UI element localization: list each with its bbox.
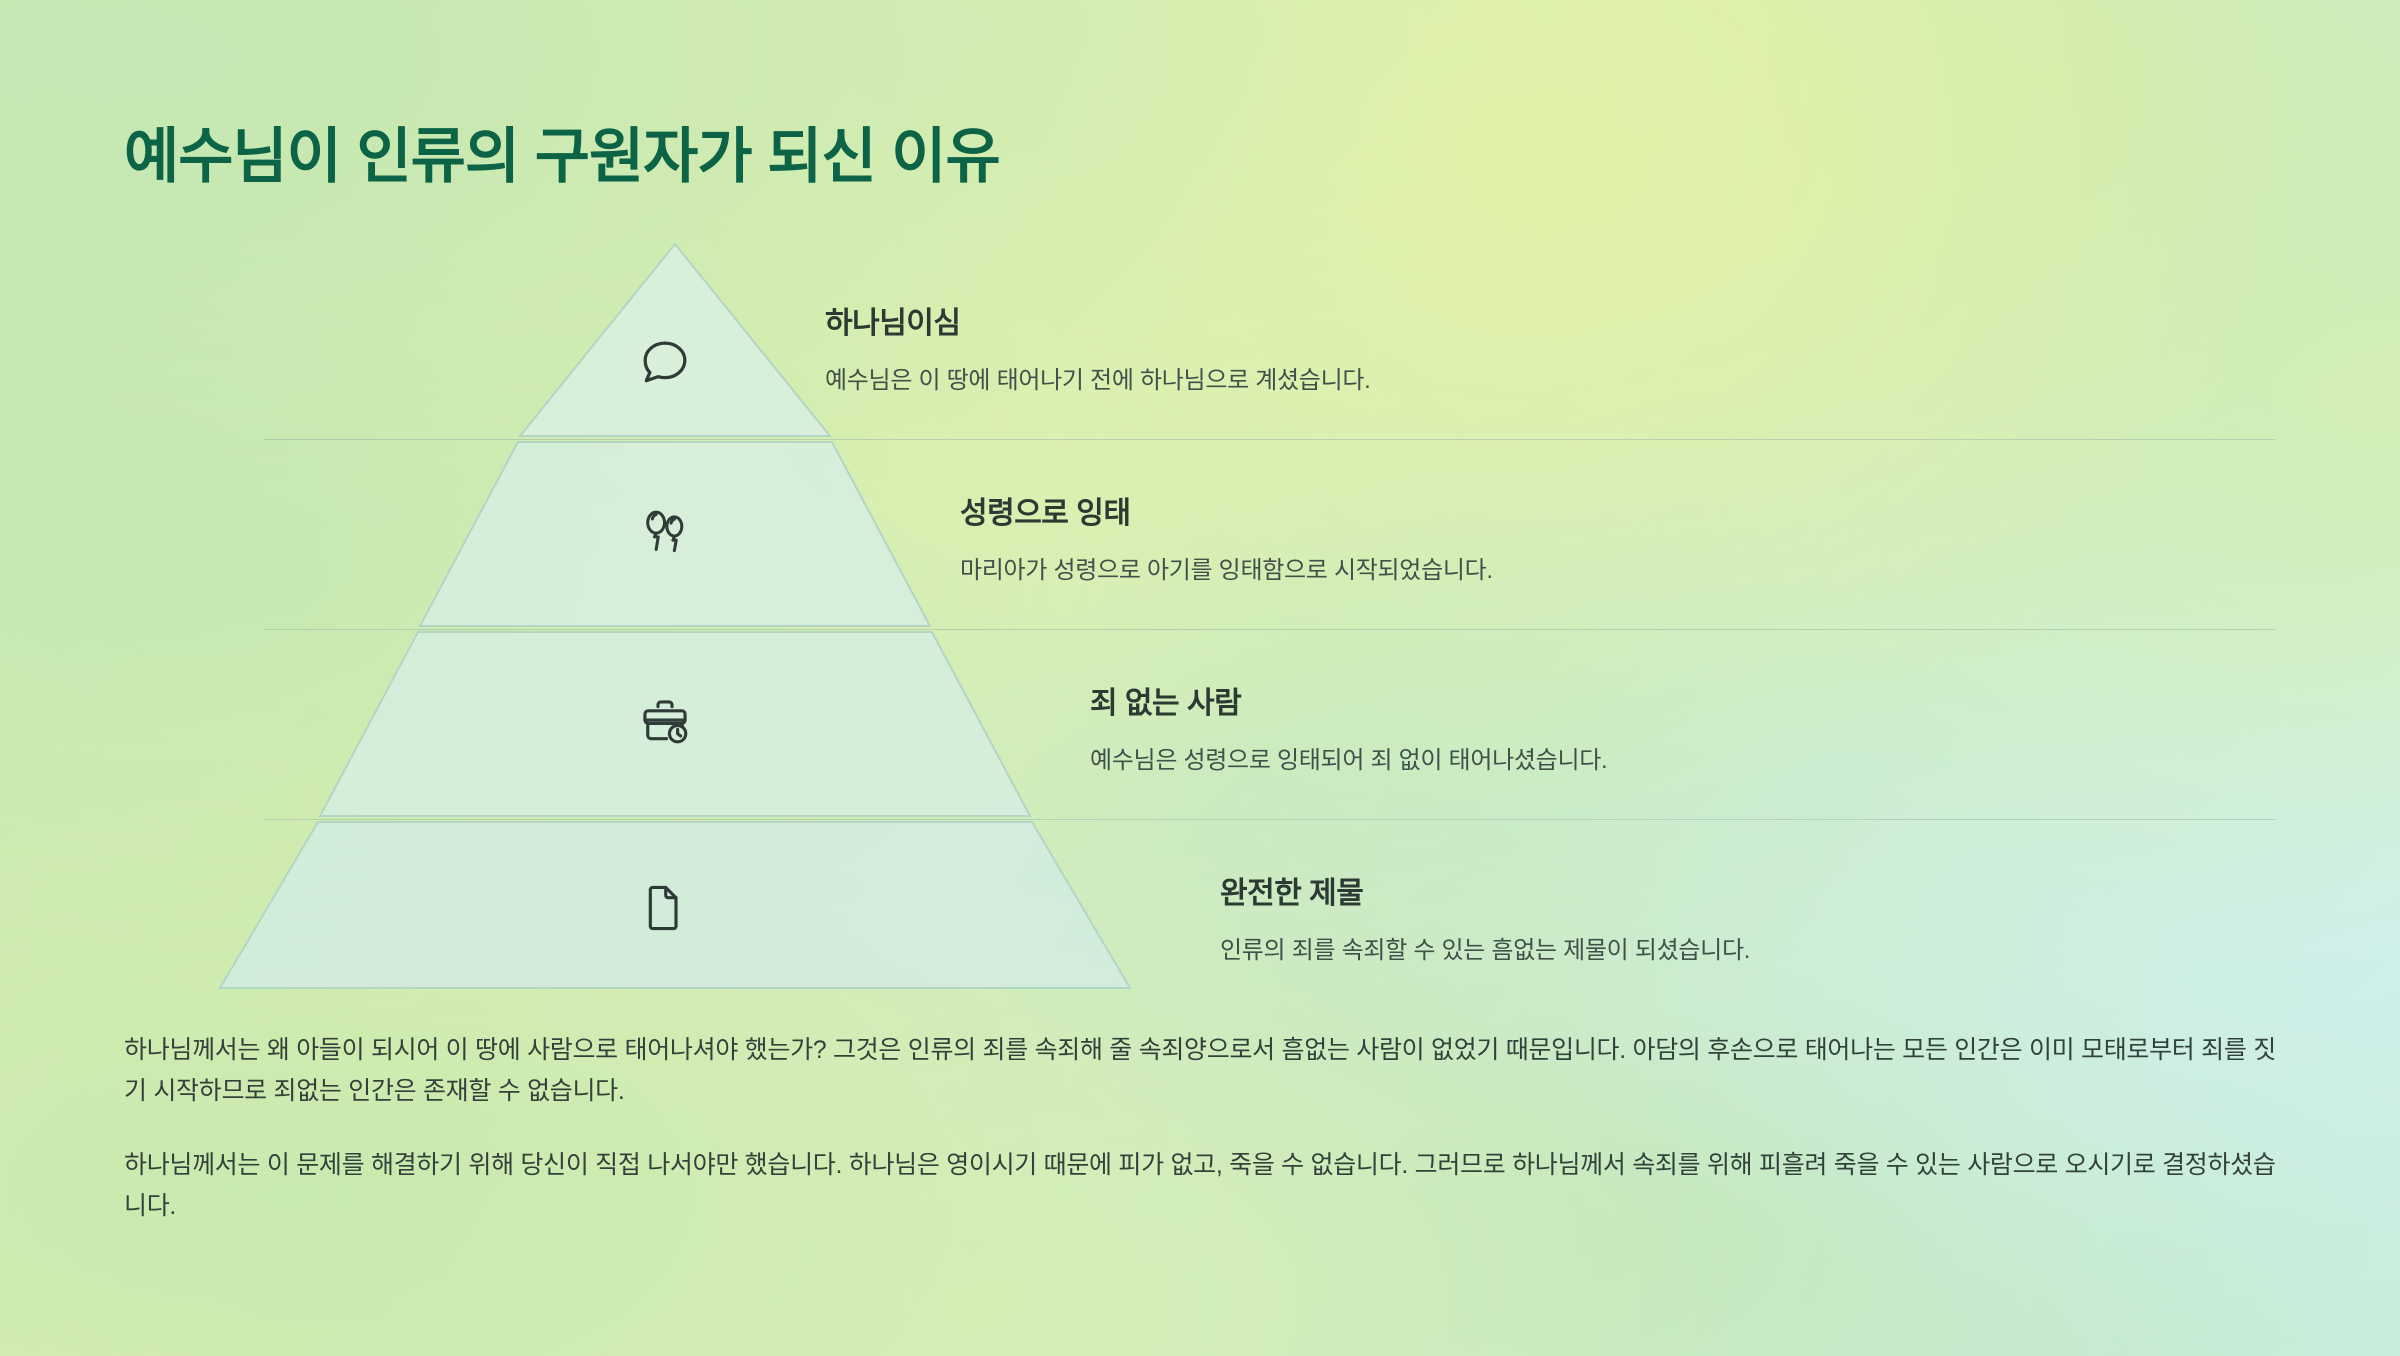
- pyramid-row-3-text: 죄 없는 사람 예수님은 성령으로 잉태되어 죄 없이 태어나셨습니다.: [1090, 678, 1607, 775]
- pyramid-row-4-heading: 완전한 제물: [1220, 868, 1750, 912]
- pyramid-row-2-text: 성령으로 잉태 마리아가 성령으로 아기를 잉태함으로 시작되었습니다.: [960, 488, 1493, 585]
- row-divider-1: [264, 439, 2276, 440]
- balloons-icon: [637, 504, 693, 560]
- pyramid-row-2-heading: 성령으로 잉태: [960, 488, 1493, 532]
- pyramid-row-3-description: 예수님은 성령으로 잉태되어 죄 없이 태어나셨습니다.: [1090, 740, 1607, 775]
- briefcase-clock-icon: [637, 694, 693, 750]
- document-icon: [634, 880, 690, 936]
- pyramid-row-2-description: 마리아가 성령으로 아기를 잉태함으로 시작되었습니다.: [960, 550, 1493, 585]
- row-divider-2: [264, 629, 2276, 630]
- row-divider-3: [264, 819, 2276, 820]
- pyramid-row-1-heading: 하나님이심: [825, 298, 1371, 342]
- body-copy: 하나님께서는 왜 아들이 되시어 이 땅에 사람으로 태어나셔야 했는가? 그것…: [124, 1030, 2279, 1226]
- body-paragraph-2: 하나님께서는 이 문제를 해결하기 위해 당신이 직접 나서야만 했습니다. 하…: [124, 1145, 2279, 1226]
- speech-bubble-icon: [637, 334, 693, 390]
- page-title: 예수님이 인류의 구원자가 되신 이유: [124, 108, 1000, 195]
- pyramid-row-4-text: 완전한 제물 인류의 죄를 속죄할 수 있는 흠없는 제물이 되셨습니다.: [1220, 868, 1750, 965]
- pyramid-diagram: 하나님이심 예수님은 이 땅에 태어나기 전에 하나님으로 계셨습니다. 성령으…: [0, 236, 2400, 996]
- body-paragraph-1: 하나님께서는 왜 아들이 되시어 이 땅에 사람으로 태어나셔야 했는가? 그것…: [124, 1030, 2279, 1111]
- pyramid-row-1-description: 예수님은 이 땅에 태어나기 전에 하나님으로 계셨습니다.: [825, 360, 1371, 395]
- pyramid-row-1-text: 하나님이심 예수님은 이 땅에 태어나기 전에 하나님으로 계셨습니다.: [825, 298, 1371, 395]
- pyramid-row-4-description: 인류의 죄를 속죄할 수 있는 흠없는 제물이 되셨습니다.: [1220, 930, 1750, 965]
- pyramid-row-3-heading: 죄 없는 사람: [1090, 678, 1607, 722]
